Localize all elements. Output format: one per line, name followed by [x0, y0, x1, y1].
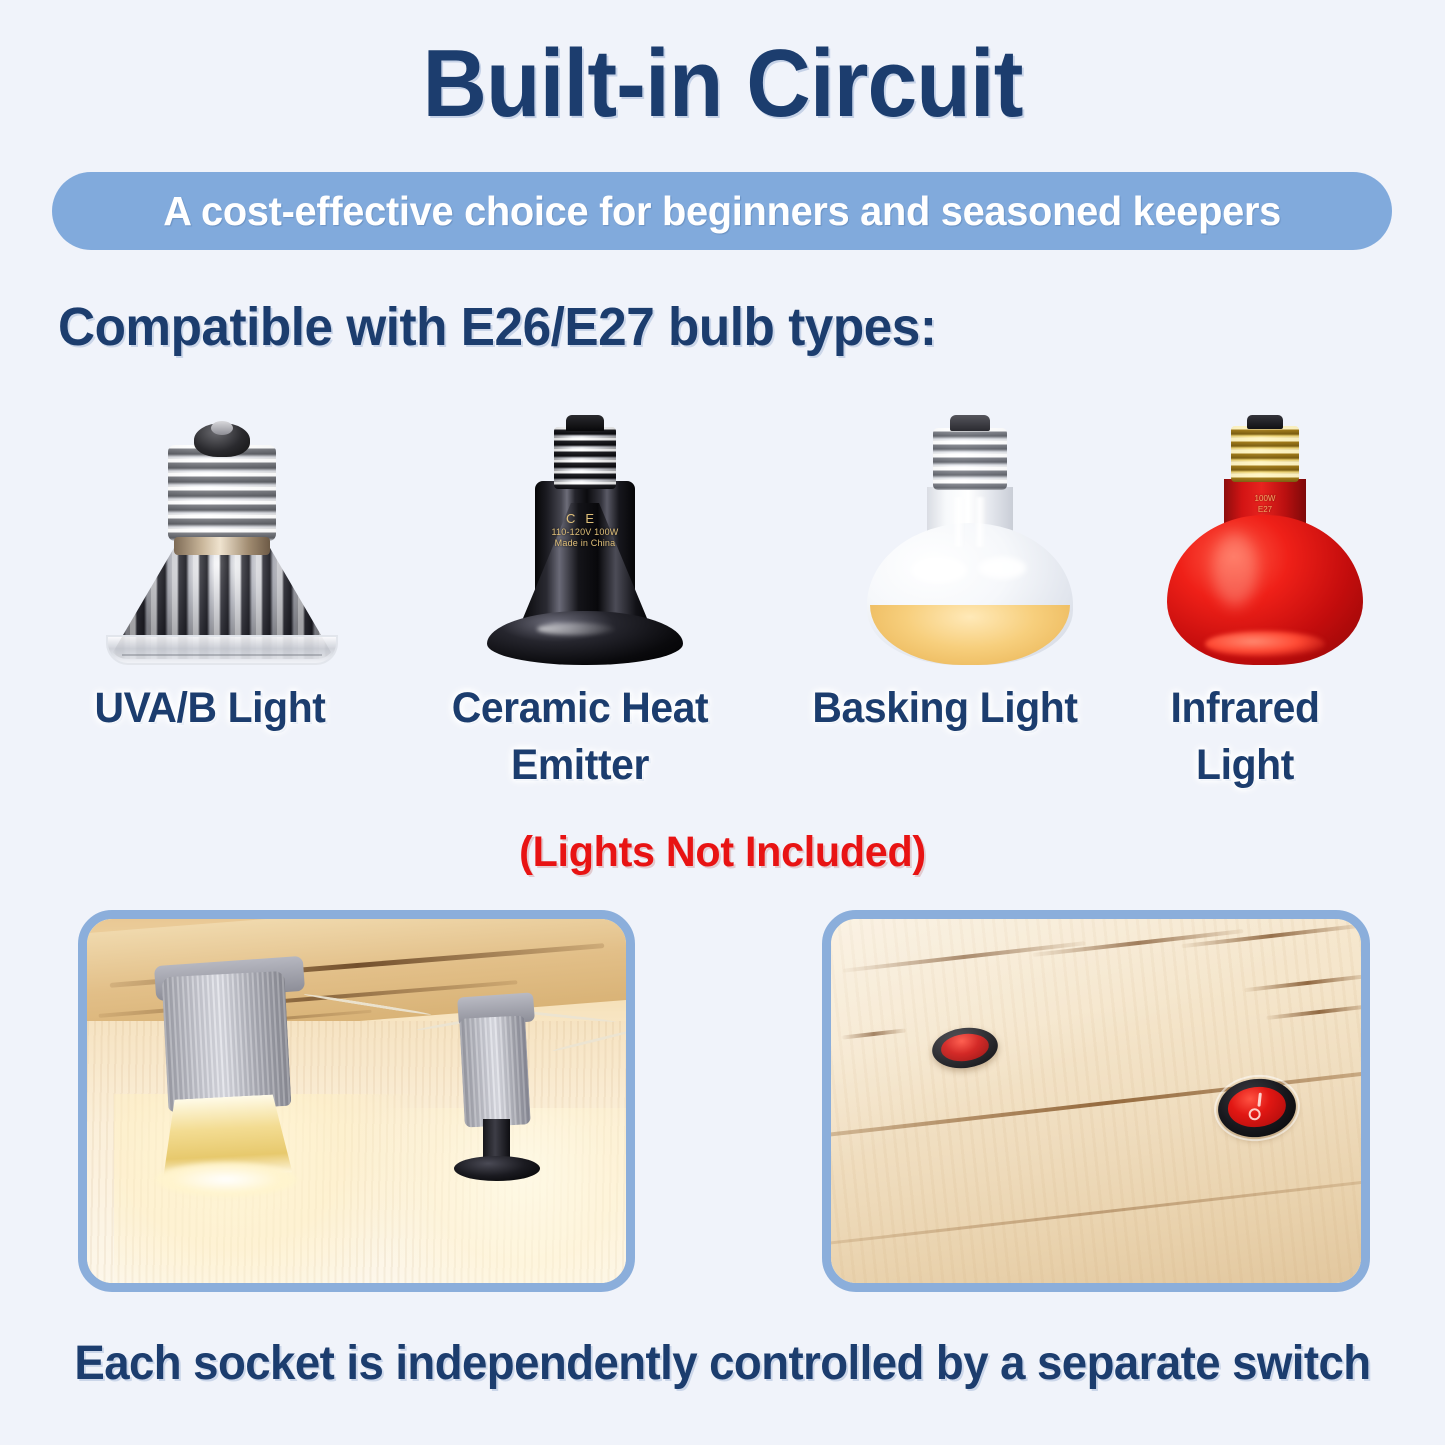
infrared-print-text: 100W E27 [1255, 493, 1276, 515]
bulb-label-basking: Basking Light [812, 680, 1078, 737]
infrared-print-line1: 100W [1255, 494, 1276, 503]
ceramic-print-line1: 110-120V 100W [552, 527, 619, 537]
ceramic-heat-emitter-image: CE 110-120V 100W Made in China [485, 415, 685, 665]
panel-light-sheen [831, 919, 1361, 1283]
bulb-collar [174, 537, 270, 555]
infrared-light-bulb-image: 100W E27 [1165, 415, 1365, 665]
ceramic-emitter-disc [454, 1156, 540, 1181]
compatibility-heading: Compatible with E26/E27 bulb types: [58, 296, 936, 358]
brass-e27-screw-base [1231, 426, 1299, 482]
bulb-label-infrared: Infrared Light [1117, 680, 1374, 794]
bulb-item-uva-b [72, 405, 372, 665]
bulb-light-emission [155, 1162, 297, 1197]
footer-caption: Each socket is independently controlled … [36, 1336, 1409, 1391]
bulb-glass-rim [106, 635, 338, 665]
subtitle-text: A cost-effective choice for beginners an… [163, 188, 1281, 235]
lamp-socket-with-bulb [152, 970, 314, 1188]
e26-screw-base [933, 428, 1007, 490]
ceramic-base-disc [487, 611, 683, 665]
bulb-rim-line [122, 654, 322, 656]
basking-light-bulb-image [865, 415, 1075, 665]
red-glass-highlight [1213, 533, 1257, 607]
ceramic-print-text: 110-120V 100W Made in China [552, 527, 619, 550]
lights-not-included-note: (Lights Not Included) [29, 828, 1416, 877]
bulb-item-infrared: 100W E27 [1115, 405, 1415, 665]
bulb-contact-tip [211, 421, 233, 435]
page-title: Built-in Circuit [51, 34, 1395, 135]
ceramic-print-line2: Made in China [555, 538, 616, 548]
subtitle-pill: A cost-effective choice for beginners an… [52, 172, 1392, 250]
glass-highlight-left [911, 557, 967, 583]
bulb-contact-tip [566, 415, 604, 431]
ceramic-base-highlight [537, 623, 615, 635]
ceramic-socket-holder [161, 971, 291, 1113]
photo-inner [831, 919, 1361, 1283]
e26-screw-base [168, 445, 276, 541]
red-glass-reflection [1205, 631, 1325, 657]
rocker-switches-panel-photo [822, 910, 1370, 1292]
photo-inner [87, 919, 626, 1283]
bulb-label-ceramic: Ceramic Heat Emitter [414, 680, 747, 794]
e27-screw-base [554, 427, 616, 489]
bulb-item-basking [820, 405, 1120, 665]
bulb-label-uva-b: UVA/B Light [39, 680, 381, 737]
infrared-print-line2: E27 [1258, 505, 1272, 514]
filament-shadow [943, 497, 997, 547]
bulb-label-row: UVA/B Light Ceramic Heat Emitter Basking… [0, 680, 1445, 810]
ce-mark-icon: CE [566, 511, 604, 526]
bulb-gallery: CE 110-120V 100W Made in China [0, 405, 1445, 665]
bulb-contact-tip [1247, 415, 1283, 429]
enclosure-interior-sockets-photo [78, 910, 635, 1292]
ceramic-socket-holder [460, 1016, 531, 1128]
lamp-socket-empty [448, 1010, 550, 1192]
bulb-contact-tip [950, 415, 990, 431]
bulb-item-ceramic: CE 110-120V 100W Made in China [435, 405, 735, 665]
warm-glow-base [870, 605, 1070, 665]
uva-b-reflector-bulb-image [107, 415, 337, 665]
infographic-root: Built-in Circuit A cost-effective choice… [0, 0, 1445, 1445]
